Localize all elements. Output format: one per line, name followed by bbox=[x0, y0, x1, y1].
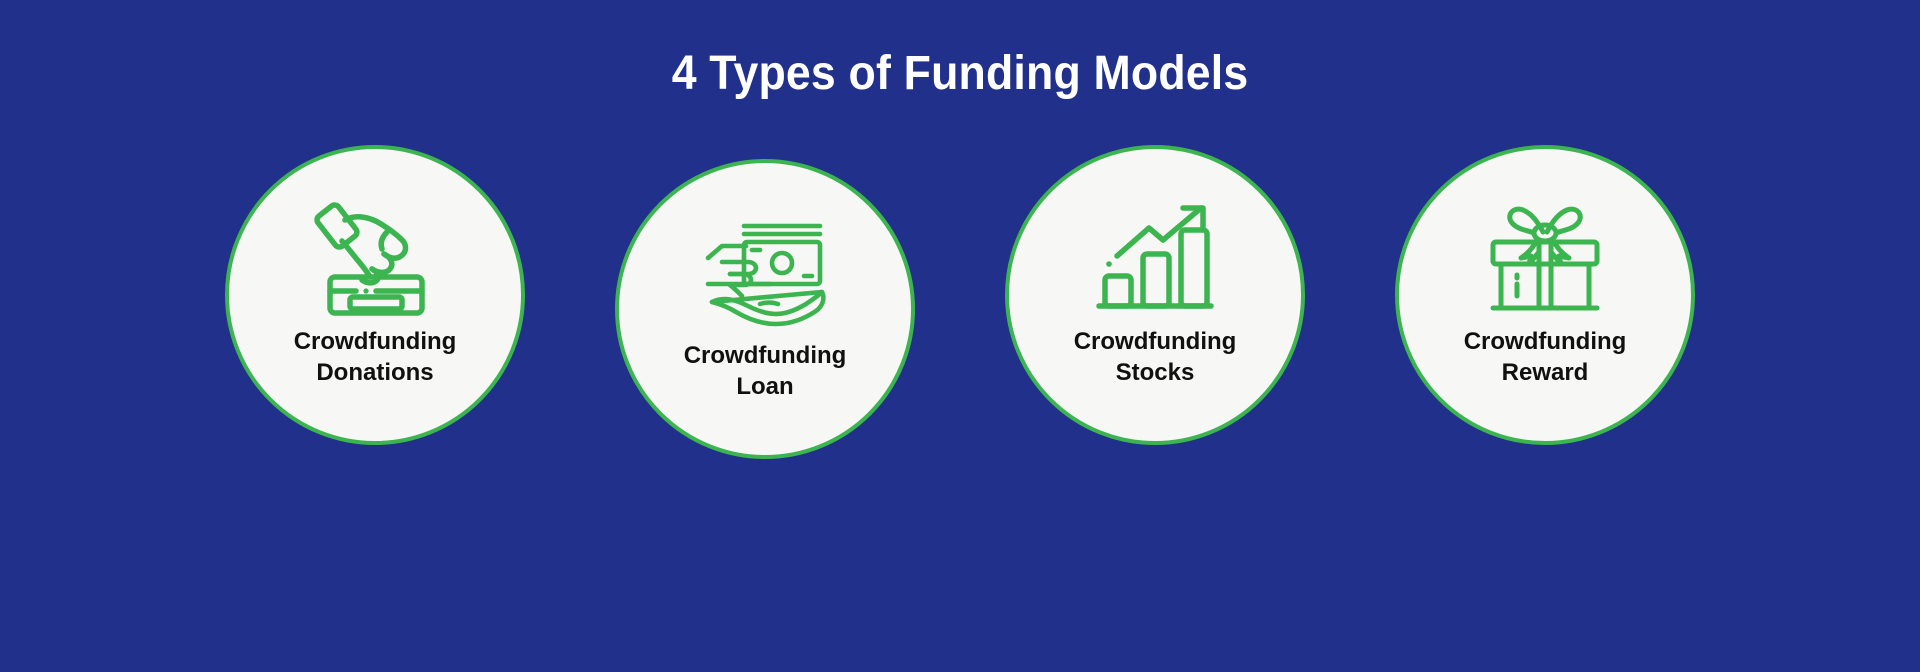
card-label-reward: Crowdfunding Reward bbox=[1420, 327, 1670, 388]
card-label-line2: Loan bbox=[640, 372, 890, 403]
funding-model-card-stocks[interactable]: Crowdfunding Stocks bbox=[1005, 145, 1305, 445]
funding-model-card-donations[interactable]: Crowdfunding Donations bbox=[225, 145, 525, 445]
hand-dropping-coin-into-donation-box-icon bbox=[310, 201, 440, 319]
funding-model-card-reward[interactable]: Crowdfunding Reward bbox=[1395, 145, 1695, 445]
rising-bar-chart-with-arrow-icon bbox=[1090, 201, 1220, 319]
funding-models-list: Crowdfunding Donations bbox=[0, 145, 1920, 445]
funding-model-card-loan[interactable]: Crowdfunding Loan bbox=[615, 159, 915, 459]
card-label-loan: Crowdfunding Loan bbox=[640, 341, 890, 402]
card-label-line1: Crowdfunding bbox=[1464, 328, 1627, 355]
card-label-donations: Crowdfunding Donations bbox=[250, 327, 500, 388]
gift-box-with-bow-icon bbox=[1480, 201, 1610, 319]
hand-holding-banknotes-over-open-palm-icon bbox=[700, 215, 830, 333]
card-label-line2: Reward bbox=[1420, 358, 1670, 389]
card-label-line2: Donations bbox=[250, 358, 500, 389]
infographic-canvas: 4 Types of Funding Models bbox=[0, 0, 1920, 672]
card-label-line1: Crowdfunding bbox=[1074, 328, 1237, 355]
card-label-line2: Stocks bbox=[1030, 358, 1280, 389]
card-label-line1: Crowdfunding bbox=[294, 328, 457, 355]
page-title: 4 Types of Funding Models bbox=[672, 48, 1249, 101]
card-label-line1: Crowdfunding bbox=[684, 342, 847, 369]
card-label-stocks: Crowdfunding Stocks bbox=[1030, 327, 1280, 388]
